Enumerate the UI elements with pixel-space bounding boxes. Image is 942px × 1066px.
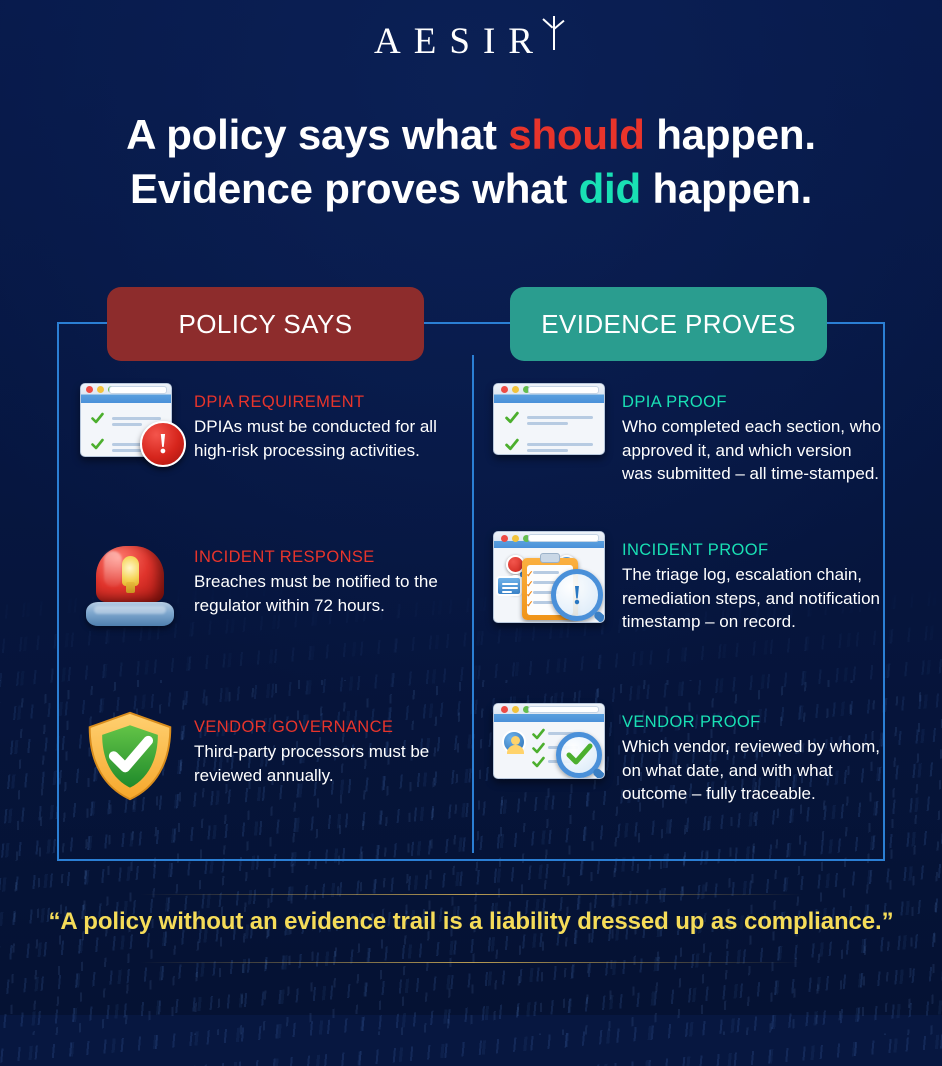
siren-alarm-icon: [80, 538, 180, 630]
magnifier-check-icon: [556, 732, 602, 778]
policy-row-body: Third-party processors must be reviewed …: [194, 740, 460, 787]
infographic-page: AESIR A policy says what should happen. …: [0, 0, 942, 1015]
headline-line2-text-b: happen.: [641, 165, 812, 212]
evidence-row-incident: ✓ ✓ ✓ ✓ !: [490, 531, 885, 634]
document-checklist-alert-icon: !: [80, 383, 180, 461]
shield-check-icon: [80, 708, 180, 804]
policy-row-body: DPIAs must be conducted for all high-ris…: [194, 415, 460, 462]
policy-says-header: POLICY SAYS: [107, 287, 424, 361]
svg-text:!: !: [573, 580, 582, 610]
quote-divider-top: [140, 894, 802, 895]
evidence-row-title: INCIDENT PROOF: [622, 541, 885, 560]
user-avatar-icon: [502, 730, 526, 754]
policy-row-title: INCIDENT RESPONSE: [194, 548, 460, 567]
brand-name: AESIR: [374, 20, 546, 63]
policy-row-title: VENDOR GOVERNANCE: [194, 718, 460, 737]
evidence-row-title: DPIA PROOF: [622, 393, 885, 412]
evidence-proves-header: EVIDENCE PROVES: [510, 287, 827, 361]
headline-line-2: Evidence proves what did happen.: [0, 162, 942, 216]
magnifier-alert-icon: !: [551, 569, 603, 621]
browser-checklist-icon: [490, 383, 608, 455]
policy-row-incident: INCIDENT RESPONSE Breaches must be notif…: [80, 538, 460, 630]
headline-line1-text-a: A policy says what: [126, 111, 508, 158]
vendor-audit-magnifier-icon: [490, 703, 608, 779]
brand-logo: AESIR: [0, 20, 942, 63]
policy-row-dpia: ! DPIA REQUIREMENT DPIAs must be conduct…: [80, 383, 460, 462]
headline-accent-should: should: [508, 111, 644, 158]
evidence-row-title: VENDOR PROOF: [622, 713, 885, 732]
headline-accent-did: did: [579, 165, 641, 212]
evidence-row-dpia: DPIA PROOF Who completed each section, w…: [490, 383, 885, 486]
policy-row-body: Breaches must be notified to the regulat…: [194, 570, 460, 617]
evidence-row-body: Who completed each section, who approved…: [622, 415, 885, 486]
workflow-clipboard-magnifier-icon: ✓ ✓ ✓ ✓ !: [490, 531, 608, 623]
headline-line-1: A policy says what should happen.: [0, 108, 942, 162]
column-divider: [472, 355, 474, 853]
headline-line1-text-b: happen.: [645, 111, 816, 158]
closing-quote: “A policy without an evidence trail is a…: [0, 908, 942, 936]
aesir-rune-icon: [542, 20, 568, 60]
evidence-row-vendor: VENDOR PROOF Which vendor, reviewed by w…: [490, 703, 885, 806]
evidence-row-body: The triage log, escalation chain, remedi…: [622, 563, 885, 634]
alert-exclamation-icon: !: [140, 421, 186, 467]
policy-row-title: DPIA REQUIREMENT: [194, 393, 460, 412]
evidence-row-body: Which vendor, reviewed by whom, on what …: [622, 735, 885, 806]
headline-line2-text-a: Evidence proves what: [130, 165, 579, 212]
quote-divider-bottom: [140, 962, 802, 963]
page-title: A policy says what should happen. Eviden…: [0, 108, 942, 216]
policy-row-vendor: VENDOR GOVERNANCE Third-party processors…: [80, 708, 460, 804]
